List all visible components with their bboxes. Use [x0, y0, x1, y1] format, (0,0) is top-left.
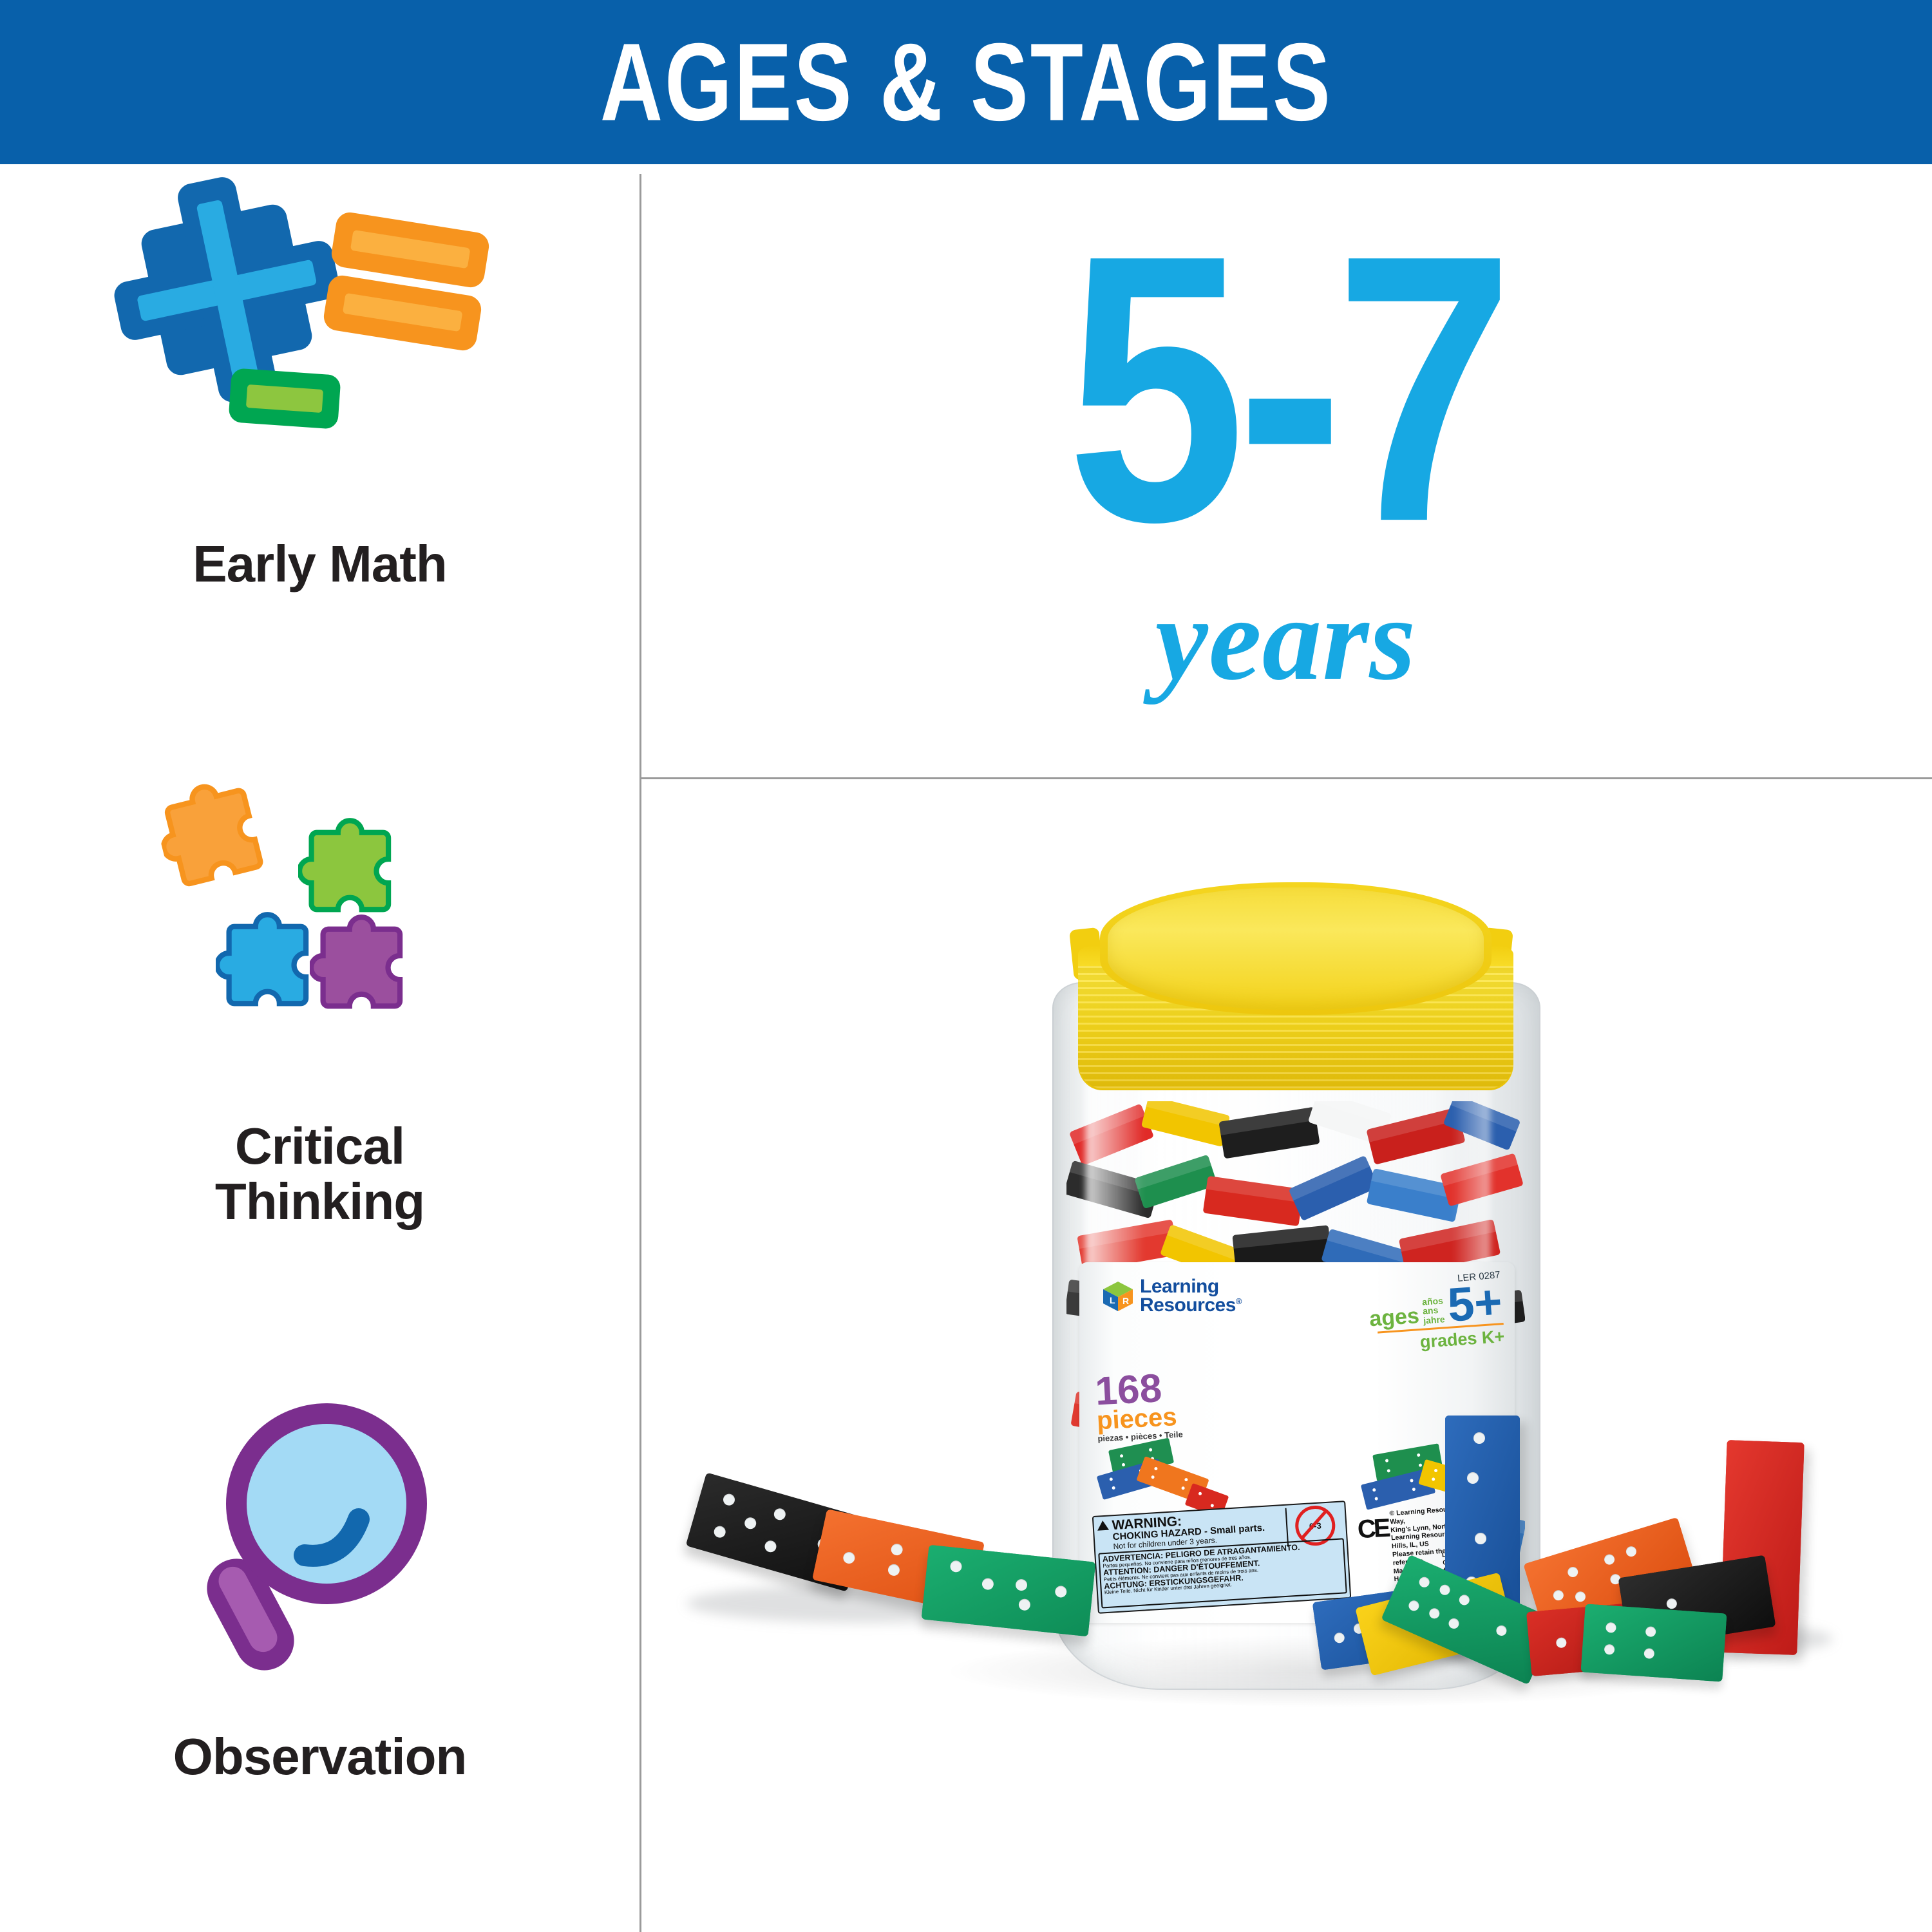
feature-early-math: Early Math [0, 203, 639, 592]
skills-sidebar: Early Math [0, 164, 639, 1932]
svg-text:L: L [1110, 1295, 1115, 1305]
ages-grades-block: ages años ans jahre 5+ grades K+ [1353, 1283, 1505, 1357]
age-range-value: 5-7 [1066, 225, 1505, 551]
header-banner: AGES & STAGES [0, 0, 1932, 164]
feature-label-observation: Observation [173, 1729, 467, 1785]
choking-hazard-warning: WARNING: CHOKING HAZARD - Small parts. N… [1092, 1501, 1352, 1614]
ages-word: ages [1368, 1306, 1419, 1329]
svg-text:R: R [1122, 1296, 1129, 1306]
ages-value: 5+ [1446, 1283, 1503, 1323]
feature-label-critical-thinking: Critical Thinking [215, 1119, 424, 1230]
page-title: AGES & STAGES [600, 27, 1332, 138]
product-photo-panel: L R Learning Resources® LER 0287 ages añ… [641, 779, 1932, 1932]
pieces-count-block: 168 pieces piezas • pièces • Teile [1094, 1371, 1183, 1443]
lid-top [1108, 887, 1484, 1010]
logo-cube-icon: L R [1101, 1280, 1135, 1313]
magnifying-glass-icon [185, 1375, 455, 1684]
brand-name: Learning Resources® [1140, 1278, 1242, 1315]
puzzle-pieces-icon [146, 750, 494, 1059]
pieces-word: pieces [1096, 1405, 1182, 1432]
feature-observation: Observation [0, 1375, 639, 1785]
brand-logo: L R Learning Resources® [1101, 1278, 1242, 1315]
feature-label-early-math: Early Math [193, 536, 447, 592]
math-symbols-icon [140, 203, 500, 473]
ages-and-stages-infographic: AGES & STAGES Early Math [0, 0, 1932, 1932]
registered-mark: ® [1236, 1296, 1242, 1306]
domino-green-right [1581, 1604, 1727, 1681]
feature-critical-thinking: Critical Thinking [0, 750, 639, 1230]
age-range-panel: 5-7 years [639, 164, 1932, 777]
warning-triangle-icon [1097, 1520, 1109, 1531]
ages-langs: años ans jahre [1422, 1296, 1445, 1325]
ce-mark-icon: CE [1357, 1514, 1389, 1544]
